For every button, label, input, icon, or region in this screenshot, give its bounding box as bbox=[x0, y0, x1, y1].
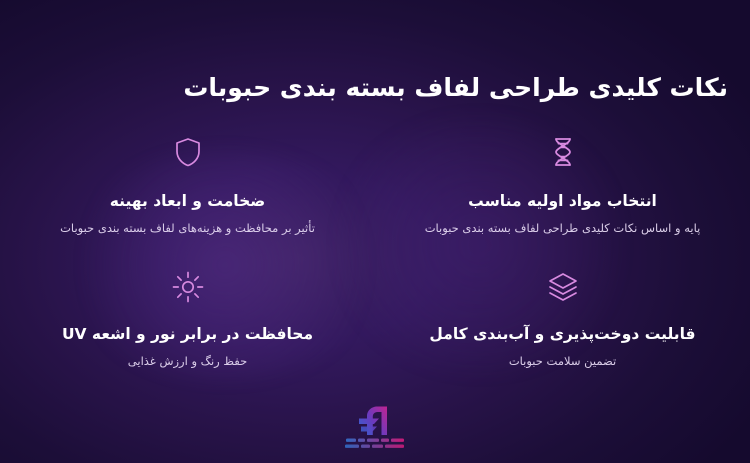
feature-card-uv: محافظت در برابر نور و اشعه UV حفظ رنگ و … bbox=[0, 266, 375, 394]
feature-card-subtitle: تأثیر بر محافظت و هزینه‌های لفاف بسته بن… bbox=[60, 221, 315, 237]
shield-icon bbox=[171, 135, 205, 169]
brand-logo-mark bbox=[353, 405, 397, 435]
feature-card-subtitle: حفظ رنگ و ارزش غذایی bbox=[128, 354, 247, 370]
feature-card-title: قابلیت دوخت‌پذیری و آب‌بندی کامل bbox=[429, 324, 695, 344]
page-title: نکات کلیدی طراحی لفاف بسته بندی حبوبات bbox=[22, 72, 728, 103]
feature-card-title: ضخامت و ابعاد بهینه bbox=[110, 191, 266, 211]
feature-card-materials: انتخاب مواد اولیه مناسب پایه و اساس نکات… bbox=[375, 131, 750, 266]
feature-card-title: محافظت در برابر نور و اشعه UV bbox=[62, 324, 313, 344]
feature-card-subtitle: پایه و اساس نکات کلیدی طراحی لفاف بسته ب… bbox=[425, 221, 701, 237]
feature-card-title: انتخاب مواد اولیه مناسب bbox=[468, 191, 657, 211]
feature-card-thickness: ضخامت و ابعاد بهینه تأثیر بر محافظت و هز… bbox=[0, 131, 375, 266]
feature-card-grid: انتخاب مواد اولیه مناسب پایه و اساس نکات… bbox=[0, 131, 750, 394]
feature-card-sealing: قابلیت دوخت‌پذیری و آب‌بندی کامل تضمین س… bbox=[375, 266, 750, 394]
sun-uv-icon bbox=[171, 270, 205, 304]
layers-icon bbox=[546, 270, 580, 304]
dna-helix-icon bbox=[546, 135, 580, 169]
brand-logo bbox=[0, 405, 750, 451]
feature-card-subtitle: تضمین سلامت حبوبات bbox=[509, 354, 616, 370]
brand-logo-wordmark bbox=[344, 437, 406, 451]
poster-canvas: نکات کلیدی طراحی لفاف بسته بندی حبوبات ا… bbox=[0, 0, 750, 463]
